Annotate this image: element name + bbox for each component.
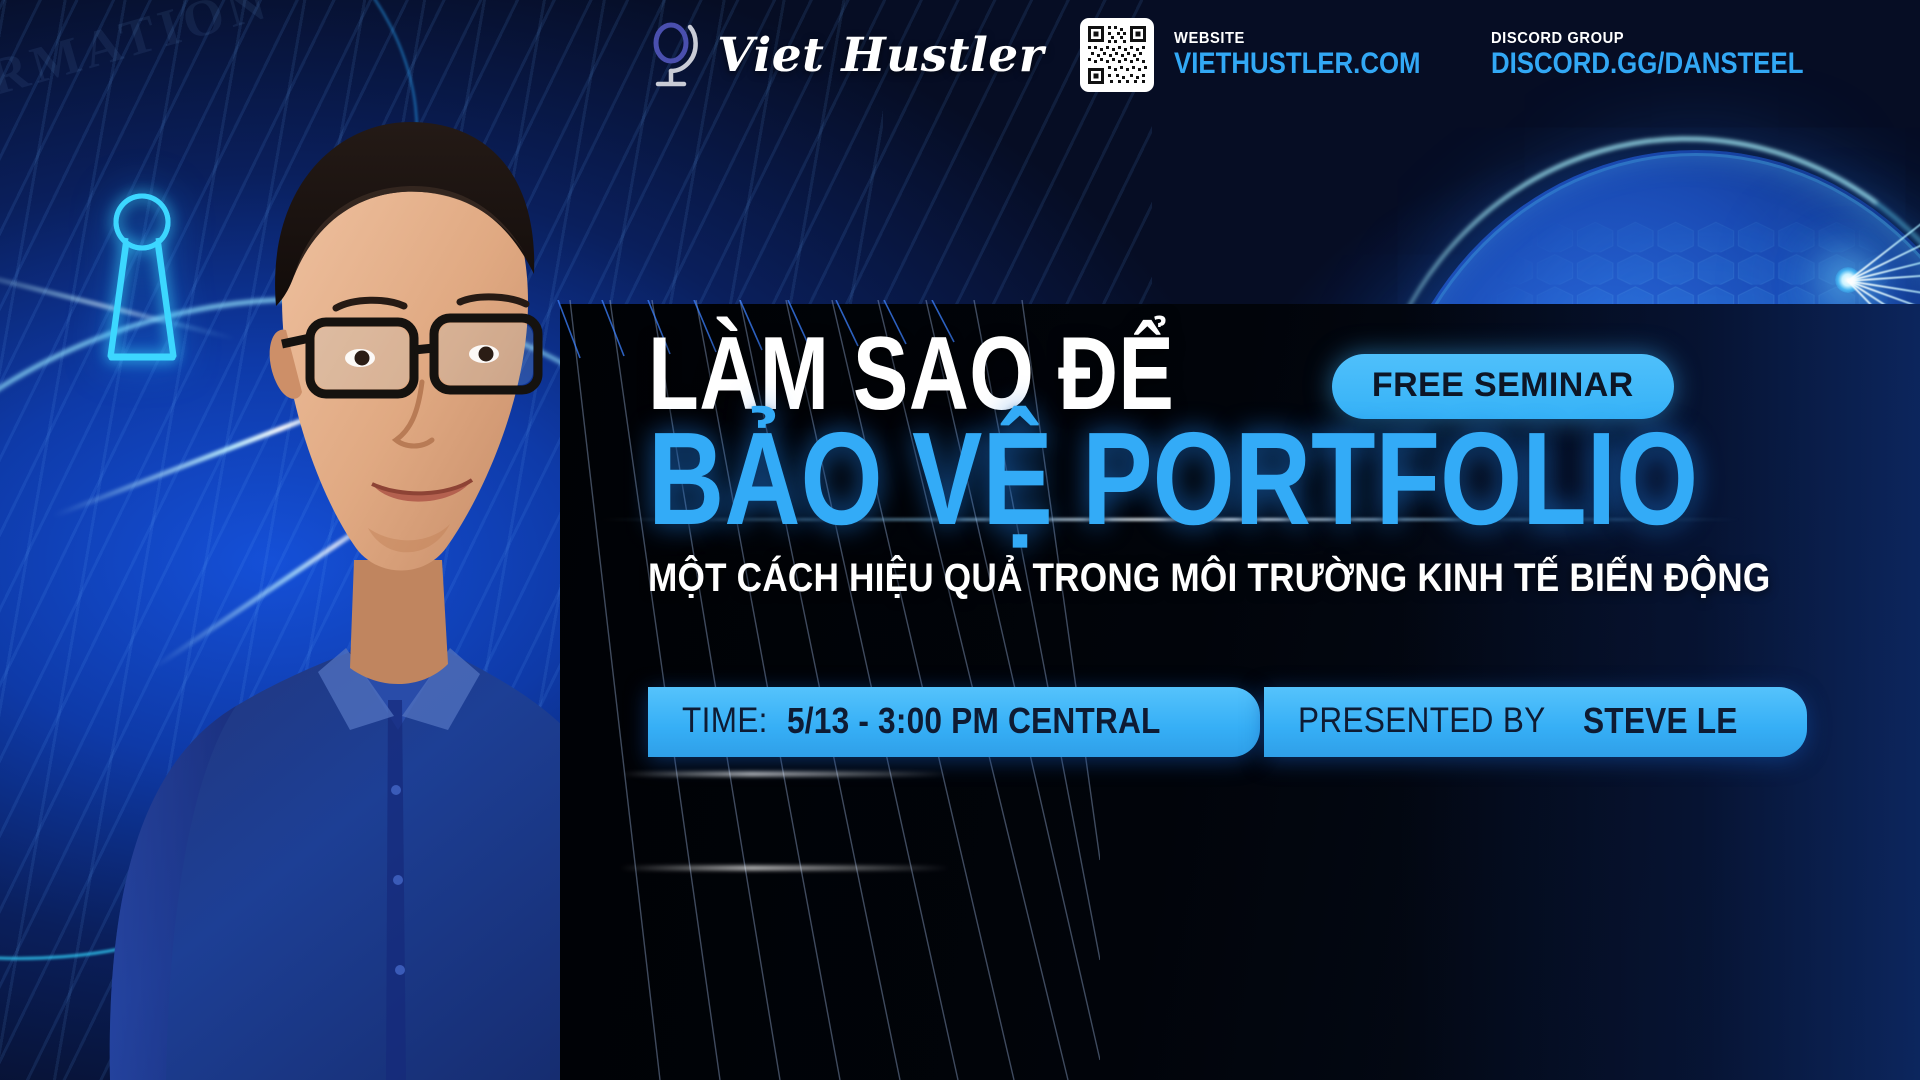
time-label: TIME:: [682, 701, 768, 741]
website-value: VIETHUSTLER.COM: [1174, 48, 1421, 80]
brand-name: Viet Hustler: [717, 28, 1044, 83]
time-pill: TIME: 5/13 - 3:00 PM CENTRAL: [648, 687, 1260, 757]
presenter-pill: PRESENTED BY STEVE LE: [1264, 687, 1807, 757]
discord-value: DISCORD.GG/DANSTEEL: [1491, 48, 1803, 80]
discord-info[interactable]: DISCORD GROUP DISCORD.GG/DANSTEEL: [1491, 30, 1854, 79]
seminar-banner: RMATION: [0, 0, 1920, 1080]
presenter-value: STEVE LE: [1583, 700, 1738, 742]
main-content: LÀM SAO ĐỂ FREE SEMINAR BẢO VỆ PORTFOLIO…: [648, 318, 1898, 757]
headline-line-2: BẢO VỆ PORTFOLIO: [648, 418, 1648, 539]
website-info[interactable]: WEBSITE VIETHUSTLER.COM: [1174, 30, 1461, 79]
brand-logo[interactable]: Viet Hustler: [649, 21, 1044, 89]
website-label: WEBSITE: [1174, 30, 1438, 48]
presenter-pill-glow: [620, 866, 950, 870]
time-pill-glow: [620, 772, 950, 776]
microphone-icon: [649, 21, 703, 89]
subheadline: MỘT CÁCH HIỆU QUẢ TRONG MÔI TRƯỜNG KINH …: [648, 557, 1748, 599]
detail-pills: TIME: 5/13 - 3:00 PM CENTRAL PRESENTED B…: [648, 665, 1898, 757]
time-value: 5/13 - 3:00 PM CENTRAL: [787, 700, 1161, 742]
qr-code-icon[interactable]: [1080, 18, 1154, 92]
discord-label: DISCORD GROUP: [1491, 30, 1825, 48]
presenter-label: PRESENTED BY: [1298, 701, 1546, 741]
header-bar: Viet Hustler: [0, 0, 1920, 110]
